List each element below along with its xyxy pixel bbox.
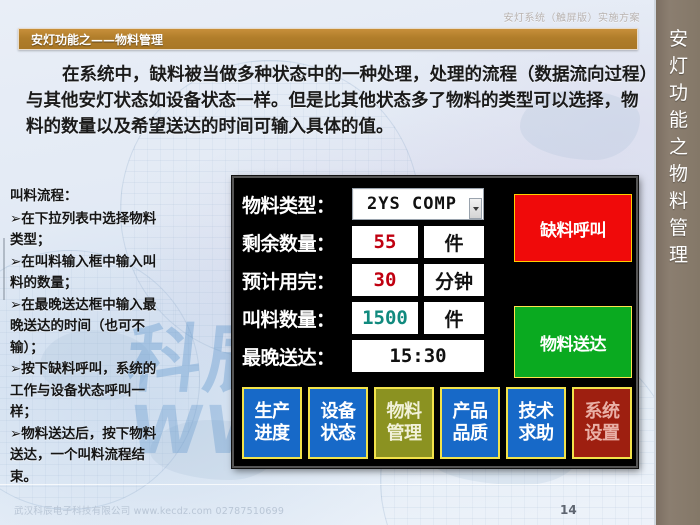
hmi-screen: 物料类型： 2YS COMP 剩余数量： 55 件 预计用完： 30 分钟 叫 bbox=[232, 176, 638, 468]
material-delivered-button[interactable]: 物料送达 bbox=[514, 306, 632, 378]
list-item: ➢在最晚送达框中输入最晚送达的时间（也可不输）； bbox=[10, 295, 160, 360]
nav-technical-help[interactable]: 技术 求助 bbox=[506, 387, 566, 459]
material-type-value: 2YS COMP bbox=[367, 194, 469, 214]
nav-label-line1: 技术 bbox=[519, 401, 554, 423]
nav-label-line2: 求助 bbox=[519, 423, 554, 445]
nav-production-progress[interactable]: 生产 进度 bbox=[242, 387, 302, 459]
list-item: ➢按下缺料呼叫，系统的工作与设备状态呼叫一样； bbox=[10, 359, 160, 424]
procedure-list: 叫料流程： ➢在下拉列表中选择物料类型； ➢在叫料输入框中输入叫料的数量； ➢在… bbox=[10, 186, 160, 488]
time-to-empty-label: 预计用完： bbox=[242, 267, 352, 294]
nav-equipment-status[interactable]: 设备 状态 bbox=[308, 387, 368, 459]
nav-label-line2: 状态 bbox=[321, 423, 356, 445]
list-item: ➢在下拉列表中选择物料类型； bbox=[10, 209, 160, 252]
right-side-title: 安 灯 功 能 之 物 料 管 理 bbox=[656, 26, 700, 269]
nav-label-line1: 生产 bbox=[255, 401, 290, 423]
nav-label-line2: 品质 bbox=[453, 423, 488, 445]
page-number: 14 bbox=[560, 503, 577, 517]
slide-title-bar: 安灯功能之——物料管理 bbox=[18, 28, 638, 50]
right-char: 之 bbox=[656, 134, 700, 161]
shortage-call-button[interactable]: 缺料呼叫 bbox=[514, 194, 632, 262]
page-title: 安灯功能之——物料管理 bbox=[19, 31, 163, 48]
nav-label-line1: 设备 bbox=[321, 401, 356, 423]
slide-canvas: 科辰电子 WWW.KEC 安灯系统（触屏版）实施方案 安灯功能之——物料管理 在… bbox=[0, 0, 700, 525]
right-char: 理 bbox=[656, 242, 700, 269]
remaining-qty-label: 剩余数量： bbox=[242, 229, 352, 256]
time-to-empty-unit: 分钟 bbox=[424, 264, 484, 296]
right-char: 料 bbox=[656, 188, 700, 215]
nav-label-line1: 产品 bbox=[453, 401, 488, 423]
nav-label-line2: 设置 bbox=[585, 423, 620, 445]
left-rule bbox=[3, 238, 5, 300]
right-char: 管 bbox=[656, 215, 700, 242]
nav-material-management[interactable]: 物料 管理 bbox=[374, 387, 434, 459]
nav-label-line1: 系统 bbox=[585, 401, 620, 423]
header-subtitle: 安灯系统（触屏版）实施方案 bbox=[504, 9, 641, 24]
request-qty-input[interactable]: 1500 bbox=[352, 302, 418, 334]
right-char: 功 bbox=[656, 80, 700, 107]
right-char: 物 bbox=[656, 161, 700, 188]
nav-system-settings[interactable]: 系统 设置 bbox=[572, 387, 632, 459]
footer-divider bbox=[0, 484, 654, 485]
nav-label-line1: 物料 bbox=[387, 401, 422, 423]
hmi-nav-bar: 生产 进度 设备 状态 物料 管理 产品 品质 技术 求助 系统 设置 bbox=[242, 387, 632, 459]
form-row-time-to-empty: 预计用完： 30 分钟 bbox=[242, 262, 632, 298]
request-qty-unit: 件 bbox=[424, 302, 484, 334]
right-char: 能 bbox=[656, 107, 700, 134]
right-char: 灯 bbox=[656, 53, 700, 80]
chevron-down-icon[interactable] bbox=[469, 198, 482, 219]
remaining-qty-value[interactable]: 55 bbox=[352, 226, 418, 258]
request-qty-label: 叫料数量： bbox=[242, 305, 352, 332]
latest-delivery-input[interactable]: 15:30 bbox=[352, 340, 484, 372]
material-type-select[interactable]: 2YS COMP bbox=[352, 188, 484, 220]
material-request-form: 物料类型： 2YS COMP 剩余数量： 55 件 预计用完： 30 分钟 叫 bbox=[242, 186, 632, 376]
nav-label-line2: 进度 bbox=[255, 423, 290, 445]
right-char: 安 bbox=[656, 26, 700, 53]
latest-delivery-label: 最晚送达： bbox=[242, 343, 352, 370]
right-side-bar: 安 灯 功 能 之 物 料 管 理 bbox=[654, 0, 700, 525]
material-type-label: 物料类型： bbox=[242, 191, 352, 218]
footer-company: 武汉科辰电子科技有限公司 www.kecdz.com 02787510699 bbox=[14, 503, 284, 517]
remaining-qty-unit: 件 bbox=[424, 226, 484, 258]
body-paragraph: 在系统中，缺料被当做多种状态中的一种处理，处理的流程（数据流向过程）与其他安灯状… bbox=[26, 62, 654, 140]
time-to-empty-value[interactable]: 30 bbox=[352, 264, 418, 296]
list-item: ➢物料送达后，按下物料送达，一个叫料流程结束。 bbox=[10, 424, 160, 489]
list-item: ➢在叫料输入框中输入叫料的数量； bbox=[10, 252, 160, 295]
procedure-heading: 叫料流程： bbox=[10, 186, 160, 208]
nav-label-line2: 管理 bbox=[387, 423, 422, 445]
nav-product-quality[interactable]: 产品 品质 bbox=[440, 387, 500, 459]
